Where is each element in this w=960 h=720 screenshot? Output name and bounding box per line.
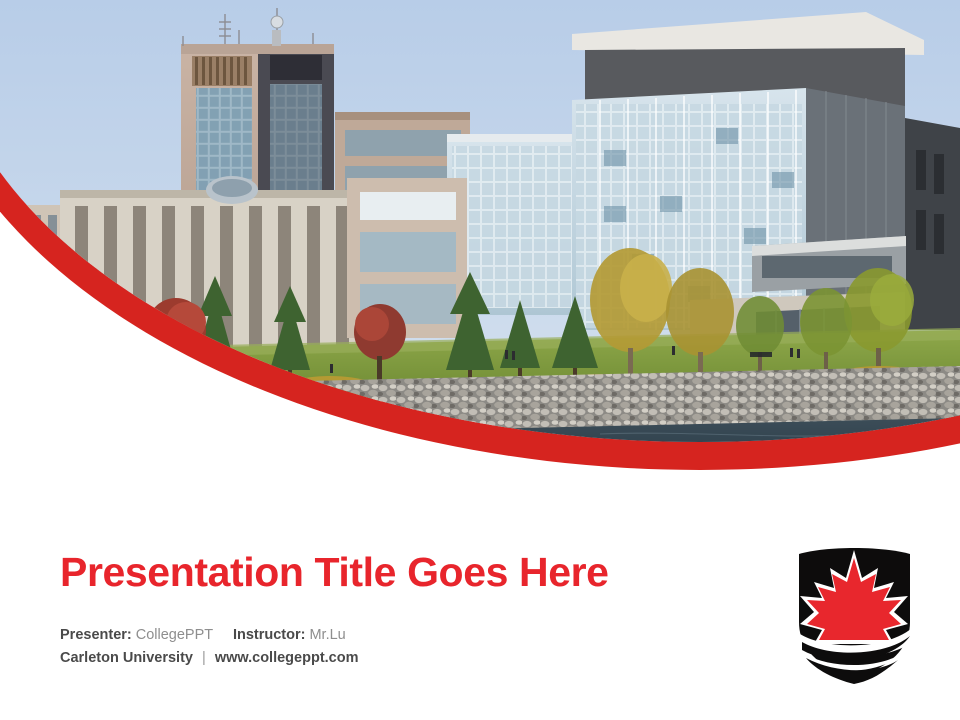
organization-line: Carleton University | www.collegeppt.com [60, 647, 700, 670]
presentation-title-slide: Presentation Title Goes Here Presenter: … [0, 0, 960, 720]
organization-name: Carleton University [60, 650, 193, 666]
presenter-meta: Presenter: CollegePPT Instructor: Mr.Lu … [60, 624, 700, 670]
website-link[interactable]: www.collegeppt.com [215, 650, 359, 666]
hero-banner [0, 0, 960, 500]
title-block: Presentation Title Goes Here Presenter: … [60, 548, 700, 670]
meta-separator: | [197, 650, 211, 666]
presenter-value: CollegePPT [136, 627, 213, 643]
instructor-value: Mr.Lu [309, 627, 345, 643]
page-title: Presentation Title Goes Here [60, 548, 700, 596]
presenter-label: Presenter: [60, 627, 132, 643]
carleton-university-shield-logo [782, 538, 928, 684]
presenter-line: Presenter: CollegePPT Instructor: Mr.Lu [60, 624, 700, 647]
shield-logo-svg [782, 538, 928, 684]
instructor-label: Instructor: [233, 627, 306, 643]
